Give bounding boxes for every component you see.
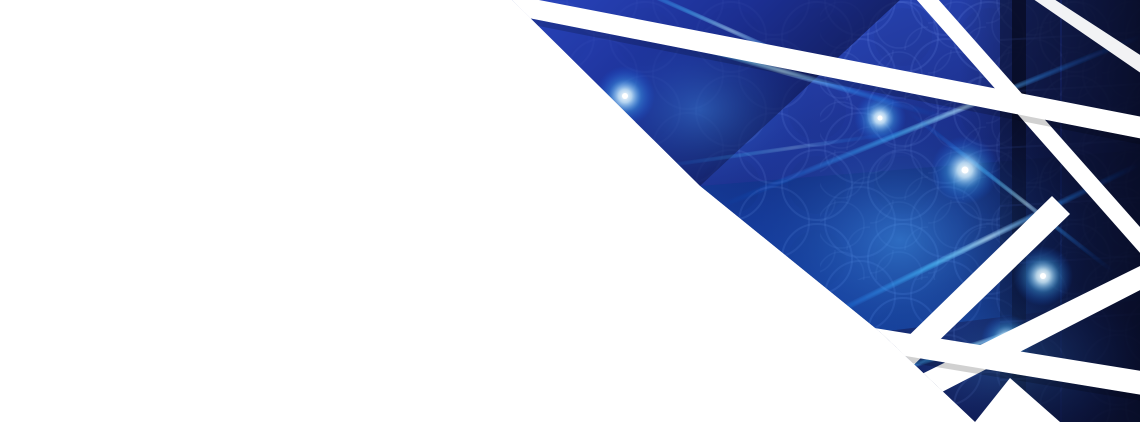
body-copy-line: about any design you require. <box>378 372 808 396</box>
body-copy-line: it offers the flexibility in constructio… <box>378 302 808 326</box>
photo-strut-bracket <box>42 216 356 398</box>
headline-line-1: STRUT CHANNELS <box>378 188 808 222</box>
text-block: STRUT CHANNELS AND ACCESSORIES Strut cha… <box>378 188 808 396</box>
body-copy-line: metal framing works. The big deal about … <box>378 325 808 349</box>
strut-channels-banner: STRUT CHANNELS AND ACCESSORIES Strut cha… <box>0 0 1140 422</box>
page-title: STRUT CHANNELS AND ACCESSORIES <box>378 188 808 256</box>
photo-pipe-clamps <box>42 17 354 208</box>
body-copy-line: that no welding or drilling required to … <box>378 349 808 373</box>
headline-line-2: AND ACCESSORIES <box>378 222 808 256</box>
body-copy: Strut channels are widely used because i… <box>378 256 808 396</box>
photo-strut-bracket-artwork <box>42 216 356 398</box>
body-copy-line: Strut channels are widely used because <box>378 278 808 302</box>
photo-pipe-clamps-artwork <box>42 17 354 208</box>
